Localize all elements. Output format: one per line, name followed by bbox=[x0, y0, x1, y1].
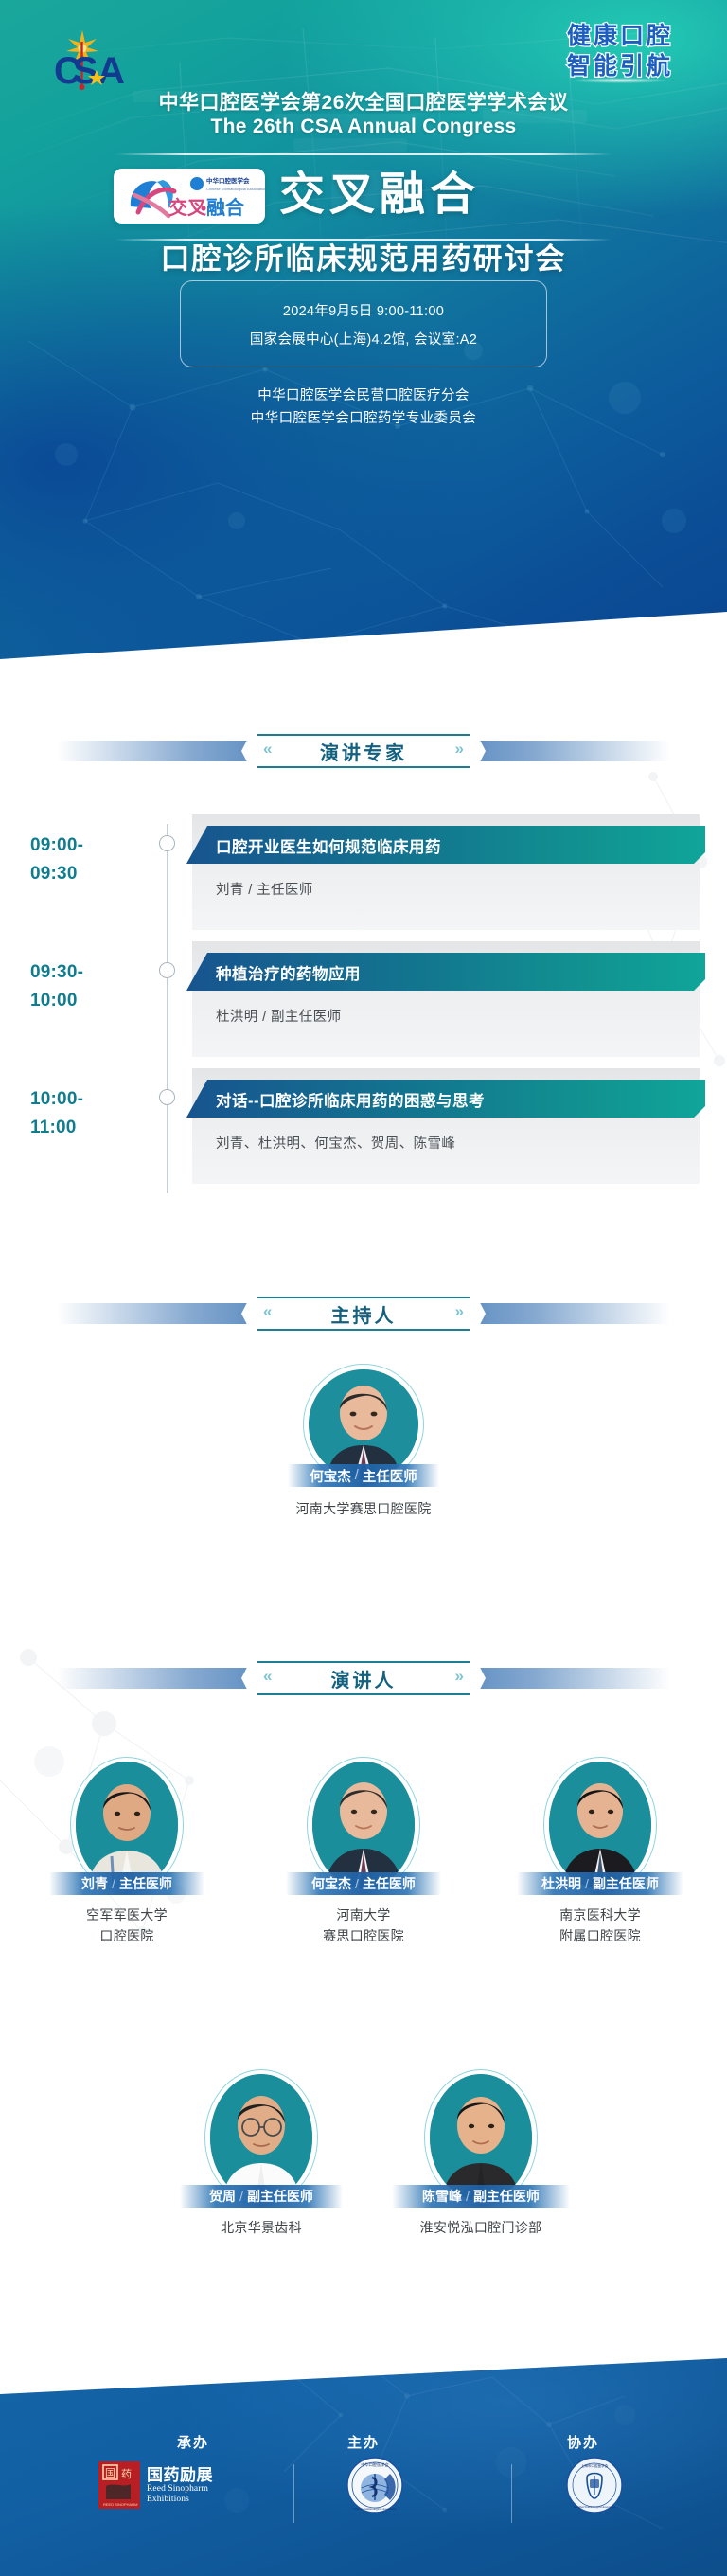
section-line-bottom bbox=[257, 1693, 470, 1695]
moderator-card[interactable]: 何宝杰 / 主任医师 河南大学赛思口腔医院 bbox=[0, 1364, 727, 1544]
agenda-item[interactable]: 10:00- 11:00 对话--口腔诊所临床用药的困惑与思考 刘青、杜洪明、何… bbox=[0, 1068, 727, 1188]
affiliation-line: 口腔医院 bbox=[25, 1925, 229, 1946]
speaker-card[interactable]: 刘青 / 主任医师 空军军医大学 口腔医院 bbox=[25, 1757, 229, 1946]
speaker-nameplate: 陈雪峰 / 副主任医师 bbox=[392, 2185, 570, 2208]
speaker-card[interactable]: 贺周 / 副主任医师 北京华景齿科 bbox=[159, 2069, 363, 2259]
footer: 承办 国 药 REED SINOPHARM 国药励展 Reed Sinophar… bbox=[0, 2358, 727, 2576]
speaker-nameplate: 刘青 / 主任医师 bbox=[49, 1872, 204, 1895]
affiliation-line: 空军军医大学 bbox=[25, 1905, 229, 1925]
affiliation-line: 南京医科大学 bbox=[498, 1905, 702, 1925]
speaker-title: 副主任医师 bbox=[473, 2187, 540, 2206]
svg-text:A: A bbox=[98, 50, 124, 92]
avatar bbox=[210, 2074, 312, 2201]
speaker-card[interactable]: 何宝杰 / 主任医师 河南大学 赛思口腔医院 bbox=[261, 1757, 466, 1946]
speaker-nameplate: 贺周 / 副主任医师 bbox=[180, 2185, 343, 2208]
chevron-right-icon: » bbox=[455, 1302, 464, 1321]
footer-label-coorganizer: 协办 bbox=[526, 2432, 640, 2452]
agenda-speaker: 刘青、杜洪明、何宝杰、贺周、陈雪峰 bbox=[216, 1133, 455, 1153]
speaker-title: 副主任医师 bbox=[593, 1874, 659, 1893]
chevron-right-icon: » bbox=[455, 740, 464, 759]
agenda-list: 09:00- 09:30 口腔开业医生如何规范临床用药 刘青 / 主任医师 09… bbox=[0, 814, 727, 1193]
campaign-logo-glow bbox=[570, 78, 670, 83]
agenda-topic: 对话--口腔诊所临床用药的困惑与思考 bbox=[216, 1088, 485, 1111]
agenda-time-start: 09:00- bbox=[30, 835, 83, 855]
theme-badge-org: 中华口腔医学会 bbox=[206, 176, 250, 185]
theme-row: 中华口腔医学会 Chinese Stomatological Associati… bbox=[0, 161, 727, 231]
section-line-top bbox=[257, 734, 470, 736]
section-header-agenda: « » 演讲专家 bbox=[0, 725, 727, 777]
agenda-speaker: 杜洪明 / 副主任医师 bbox=[216, 1006, 342, 1026]
chevron-right-icon: » bbox=[455, 1667, 464, 1686]
campaign-logo-line1: 健康口腔 bbox=[549, 17, 691, 51]
speaker-affiliation: 空军军医大学 口腔医院 bbox=[25, 1905, 229, 1946]
section-title-speakers: 演讲人 bbox=[331, 1665, 397, 1692]
moderator-nameplate: 何宝杰 / 主任医师 bbox=[288, 1464, 439, 1487]
agenda-timeline-dot bbox=[159, 962, 175, 978]
agenda-time: 10:00- 11:00 bbox=[30, 1085, 151, 1142]
theme-text: 交叉融合 bbox=[279, 165, 480, 225]
affiliation-line: 赛思口腔医院 bbox=[261, 1925, 466, 1946]
theme-badge-logo: 中华口腔医学会 Chinese Stomatological Associati… bbox=[114, 169, 265, 224]
speaker-title: 主任医师 bbox=[119, 1874, 172, 1893]
affiliation-line: 河南大学 bbox=[261, 1905, 466, 1925]
svg-text:S: S bbox=[73, 50, 98, 92]
agenda-time: 09:30- 10:00 bbox=[30, 958, 151, 1015]
footer-label-organizer: 主办 bbox=[307, 2432, 420, 2452]
section-line-bottom bbox=[257, 1329, 470, 1331]
moderator-title: 主任医师 bbox=[363, 1466, 417, 1486]
sinopharm-mark-icon: 国 药 REED SINOPHARM bbox=[98, 2461, 140, 2509]
reed-sinopharm-en-2: Exhibitions bbox=[147, 2495, 213, 2505]
footer-column-coorganizer: 协办 bbox=[526, 2432, 640, 2452]
avatar bbox=[430, 2074, 532, 2201]
agenda-timeline-dot bbox=[159, 1089, 175, 1105]
svg-text:上海市口腔医学会: 上海市口腔医学会 bbox=[581, 2463, 609, 2468]
footer-divider bbox=[511, 2464, 512, 2523]
footer-divider bbox=[293, 2464, 294, 2523]
reed-sinopharm-cn: 国药励展 bbox=[147, 2466, 213, 2484]
footer-column-host: 承办 bbox=[98, 2432, 288, 2452]
agenda-time-end: 10:00 bbox=[30, 991, 78, 1011]
svg-text:Shanghai Stomatological Associ: Shanghai Stomatological Association bbox=[574, 2505, 616, 2509]
section-line-top bbox=[257, 1297, 470, 1298]
svg-text:REED SINOPHARM: REED SINOPHARM bbox=[103, 2502, 137, 2507]
avatar bbox=[312, 1762, 415, 1888]
agenda-speaker: 刘青 / 主任医师 bbox=[216, 879, 313, 899]
speaker-affiliation: 河南大学 赛思口腔医院 bbox=[261, 1905, 466, 1946]
reed-sinopharm-text: 国药励展 Reed Sinopharm Exhibitions bbox=[147, 2466, 213, 2504]
moderator-name: 何宝杰 bbox=[310, 1466, 351, 1486]
organizer-line-2: 中华口腔医学会口腔药学专业委员会 bbox=[0, 407, 727, 427]
svg-text:药: 药 bbox=[121, 2468, 132, 2480]
conference-title-en: The 26th CSA Annual Congress bbox=[0, 116, 727, 138]
reed-sinopharm-en-1: Reed Sinopharm bbox=[147, 2484, 213, 2495]
conference-poster: C S A 健康口腔 智能引航 中华口腔医学会第26次全国口腔医学学术会议 Th… bbox=[0, 0, 727, 2576]
svg-text:中华口腔医学会: 中华口腔医学会 bbox=[361, 2461, 389, 2468]
svg-text:Chinese Stomatological Associa: Chinese Stomatological Association bbox=[353, 2507, 397, 2511]
agenda-time-end: 09:30 bbox=[30, 864, 78, 884]
chevron-left-icon: « bbox=[263, 1302, 272, 1321]
speaker-card[interactable]: 陈雪峰 / 副主任医师 淮安悦泓口腔门诊部 bbox=[379, 2069, 583, 2259]
speaker-card[interactable]: 杜洪明 / 副主任医师 南京医科大学 附属口腔医院 bbox=[498, 1757, 702, 1946]
speakers-row-1: 刘青 / 主任医师 空军军医大学 口腔医院 bbox=[0, 1757, 727, 1946]
organizer-line-1: 中华口腔医学会民营口腔医疗分会 bbox=[0, 385, 727, 404]
event-info-box: 2024年9月5日 9:00-11:00 国家会展中心(上海)4.2馆, 会议室… bbox=[180, 280, 547, 367]
speakers-row-2: 贺周 / 副主任医师 北京华景齿科 bbox=[0, 2069, 727, 2259]
agenda-topic: 种植治疗的药物应用 bbox=[216, 961, 361, 984]
event-datetime: 2024年9月5日 9:00-11:00 bbox=[283, 300, 444, 320]
event-venue: 国家会展中心(上海)4.2馆, 会议室:A2 bbox=[250, 329, 477, 349]
agenda-topic: 口腔开业医生如何规范临床用药 bbox=[216, 834, 441, 857]
speaker-affiliation: 北京华景齿科 bbox=[159, 2217, 363, 2238]
section-header-moderator: « » 主持人 bbox=[0, 1288, 727, 1339]
chevron-left-icon: « bbox=[263, 1667, 272, 1686]
campaign-logo: 健康口腔 智能引航 bbox=[541, 9, 693, 85]
nameplate-separator: / bbox=[112, 1876, 115, 1891]
speaker-name: 陈雪峰 bbox=[422, 2187, 462, 2206]
section-header-speakers: « » 演讲人 bbox=[0, 1653, 727, 1704]
nameplate-separator: / bbox=[355, 1876, 359, 1891]
csa-seal-logo: 中华口腔医学会 Chinese Stomatological Associati… bbox=[346, 2457, 403, 2513]
footer-column-organizer: 主办 bbox=[307, 2432, 420, 2452]
section-line-top bbox=[257, 1661, 470, 1663]
avatar bbox=[309, 1369, 418, 1479]
speaker-affiliation: 淮安悦泓口腔门诊部 bbox=[369, 2217, 593, 2238]
chevron-left-icon: « bbox=[263, 740, 272, 759]
nameplate-separator: / bbox=[355, 1468, 359, 1483]
agenda-time-end: 11:00 bbox=[30, 1118, 77, 1137]
shanghai-stomatological-seal-logo: 上海市口腔医学会 Shanghai Stomatological Associa… bbox=[566, 2457, 623, 2513]
poster-subtitle: 口腔诊所临床规范用药研讨会 bbox=[0, 235, 727, 277]
svg-text:融合: 融合 bbox=[206, 196, 245, 219]
agenda-item[interactable]: 09:30- 10:00 种植治疗的药物应用 杜洪明 / 副主任医师 bbox=[0, 941, 727, 1061]
speaker-name: 贺周 bbox=[209, 2187, 236, 2206]
speaker-title: 副主任医师 bbox=[247, 2187, 313, 2206]
agenda-time-start: 09:30- bbox=[30, 962, 83, 982]
nameplate-separator: / bbox=[239, 2189, 243, 2204]
reed-sinopharm-logo: 国 药 REED SINOPHARM 国药励展 Reed Sinopharm E… bbox=[98, 2460, 240, 2510]
campaign-logo-line2: 智能引航 bbox=[549, 47, 691, 81]
nameplate-separator: / bbox=[585, 1876, 589, 1891]
svg-text:Chinese Stomatological Associa: Chinese Stomatological Association bbox=[206, 187, 265, 191]
speaker-title: 主任医师 bbox=[363, 1874, 416, 1893]
affiliation-line: 附属口腔医院 bbox=[498, 1925, 702, 1946]
speaker-nameplate: 杜洪明 / 副主任医师 bbox=[517, 1872, 683, 1895]
hero-banner: C S A 健康口腔 智能引航 中华口腔医学会第26次全国口腔医学学术会议 Th… bbox=[0, 0, 727, 663]
section-title-moderator: 主持人 bbox=[331, 1300, 397, 1328]
agenda-item[interactable]: 09:00- 09:30 口腔开业医生如何规范临床用药 刘青 / 主任医师 bbox=[0, 814, 727, 934]
speaker-name: 刘青 bbox=[81, 1874, 108, 1893]
speaker-name: 杜洪明 bbox=[541, 1874, 581, 1893]
conference-title-cn: 中华口腔医学会第26次全国口腔医学学术会议 bbox=[0, 87, 727, 116]
speaker-affiliation: 南京医科大学 附属口腔医院 bbox=[498, 1905, 702, 1946]
agenda-time-start: 10:00- bbox=[30, 1089, 83, 1109]
section-line-bottom bbox=[257, 766, 470, 768]
divider-top bbox=[115, 153, 612, 155]
footer-label-host: 承办 bbox=[98, 2432, 288, 2452]
moderator-affiliation: 河南大学赛思口腔医院 bbox=[222, 1498, 505, 1519]
nameplate-separator: / bbox=[466, 2189, 470, 2204]
avatar bbox=[76, 1762, 178, 1888]
speaker-name: 何宝杰 bbox=[311, 1874, 351, 1893]
speaker-nameplate: 何宝杰 / 主任医师 bbox=[286, 1872, 441, 1895]
agenda-time: 09:00- 09:30 bbox=[30, 832, 151, 888]
avatar bbox=[549, 1762, 651, 1888]
svg-text:国: 国 bbox=[105, 2467, 115, 2479]
agenda-timeline-dot bbox=[159, 835, 175, 851]
section-title-agenda: 演讲专家 bbox=[320, 738, 407, 765]
